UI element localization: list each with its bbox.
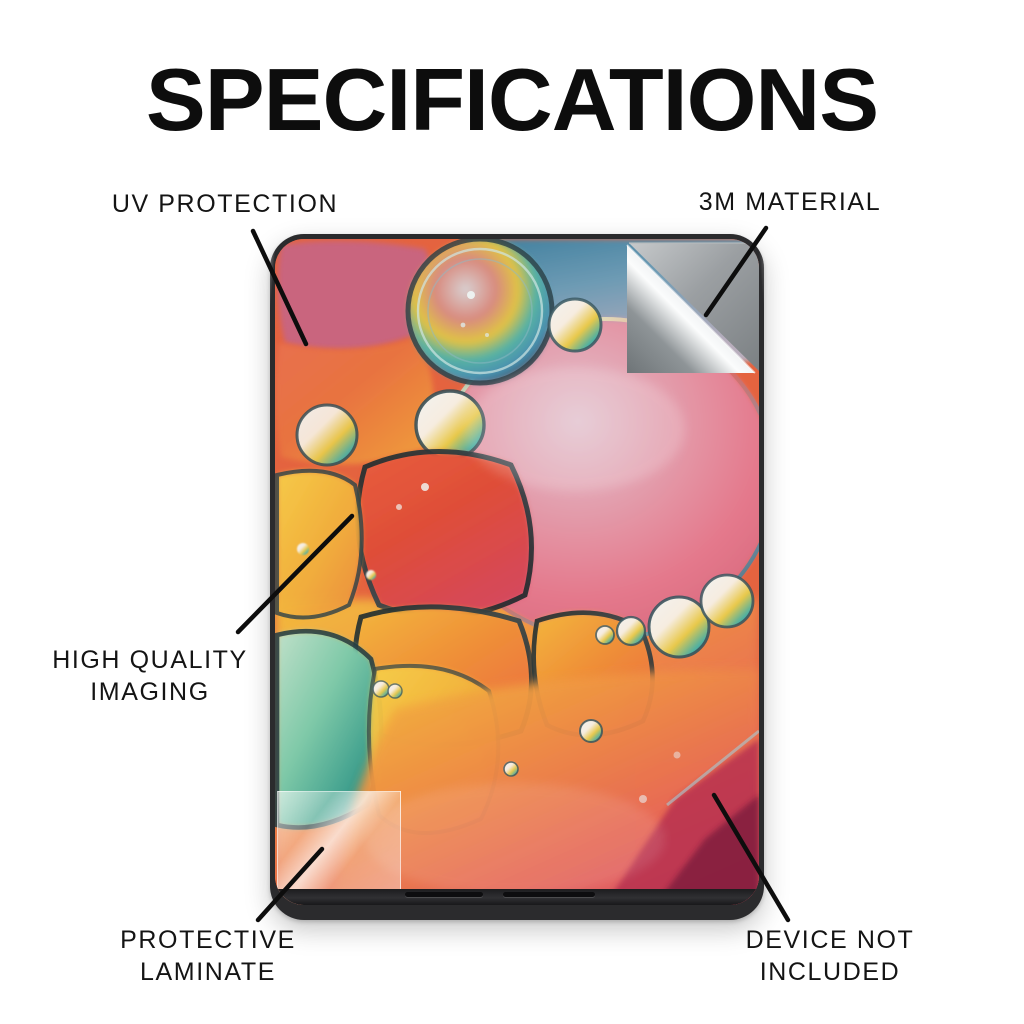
leader-line-3m-material bbox=[706, 228, 766, 315]
leader-line-device-not-included bbox=[714, 795, 788, 920]
callout-label-protective-laminate: PROTECTIVE LAMINATE bbox=[68, 924, 348, 988]
callout-label-3m-material: 3M MATERIAL bbox=[640, 186, 940, 218]
leader-line-high-quality-imaging bbox=[238, 516, 352, 632]
leader-line-protective-laminate bbox=[258, 849, 322, 920]
specifications-graphic: SPECIFICATIONS bbox=[0, 0, 1024, 1024]
callout-label-device-not-included: DEVICE NOT INCLUDED bbox=[690, 924, 970, 988]
callout-label-uv-protection: UV PROTECTION bbox=[60, 188, 390, 220]
leader-line-uv-protection bbox=[253, 231, 306, 344]
callout-label-high-quality-imaging: HIGH QUALITY IMAGING bbox=[10, 644, 290, 708]
callout-leader-lines bbox=[0, 0, 1024, 1024]
